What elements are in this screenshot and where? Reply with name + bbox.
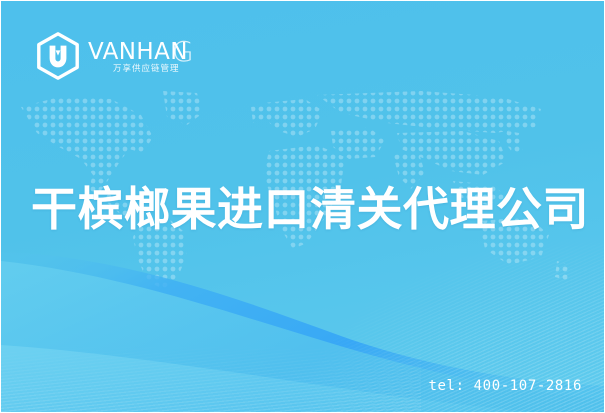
promo-banner: VANHAN G 万享供应链管理 干槟榔果进口清关代理公司 tel: 400-1… (0, 0, 605, 413)
contact-phone[interactable]: tel: 400-107-2816 (429, 378, 583, 394)
page-title: 干槟榔果进口清关代理公司 (31, 180, 587, 238)
company-logo[interactable]: VANHAN G 万享供应链管理 (35, 32, 206, 80)
logo-wordmark: VANHAN G 万享供应链管理 (88, 34, 206, 78)
wave-light-highlight (1, 301, 605, 413)
wordmark-subtext: 万享供应链管理 (113, 63, 180, 74)
vanhang-hexagon-icon (35, 32, 81, 80)
